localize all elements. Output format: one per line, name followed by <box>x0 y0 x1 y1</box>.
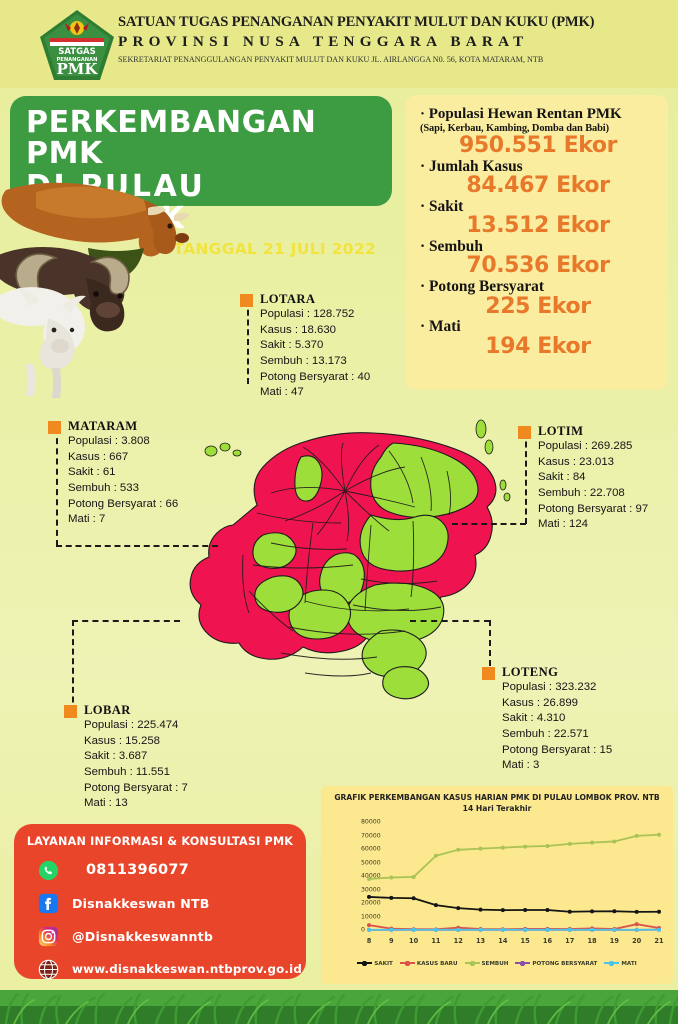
facebook-icon <box>38 893 59 914</box>
chart-legend-label: SAKIT <box>374 961 393 967</box>
logo-pmk-text: PMK <box>57 60 99 78</box>
contact-instagram-handle: @Disnakkeswanntb <box>72 929 213 944</box>
stat-value-populasi: 950.551 Ekor <box>420 134 656 158</box>
chart-legend-swatch <box>400 960 415 967</box>
chart-data-point <box>501 846 505 850</box>
chart-x-tick: 14 <box>498 937 507 945</box>
stat-value-sembuh: 70.536 Ekor <box>420 254 656 278</box>
region-stat-sembuh: Sembuh : 22.571 <box>502 727 612 743</box>
region-stat-populasi: Populasi : 3.808 <box>68 434 178 450</box>
region-stat-sakit: Sakit : 61 <box>68 465 178 481</box>
chart-data-point <box>367 895 371 899</box>
stat-value-mati: 194 Ekor <box>420 335 656 359</box>
region-box-mataram[interactable]: MATARAM Populasi : 3.808 Kasus : 667 Sak… <box>48 419 178 528</box>
stat-item-populasi: · Populasi Hewan Rentan PMK (Sapi, Kerba… <box>420 107 656 158</box>
region-stat-kasus: Kasus : 18.630 <box>260 323 370 339</box>
logo-satgas-text: SATGAS <box>58 47 96 57</box>
chart-x-tick: 12 <box>454 937 463 945</box>
chart-data-point <box>367 923 371 927</box>
chart-legend-swatch <box>604 960 619 967</box>
contact-panel: LAYANAN INFORMASI & KONSULTASI PMK 08113… <box>14 824 306 979</box>
region-header: LOTARA <box>240 292 370 307</box>
header-address-line: SEKRETARIAT PENANGGULANGAN PENYAKIT MULU… <box>118 55 670 64</box>
region-stat-potong-bersyarat: Potong Bersyarat : 97 <box>538 502 648 518</box>
contact-phone-number: 0811396077 <box>86 862 189 878</box>
chart-x-tick: 16 <box>543 937 552 945</box>
poster-header: SATGAS PENANGANAN PMK SATUAN TUGAS PENAN… <box>0 0 678 88</box>
chart-data-point <box>635 928 639 932</box>
region-stat-list: Populasi : 225.474 Kasus : 15.258 Sakit … <box>84 718 188 812</box>
bullet-icon: · <box>420 319 425 334</box>
stat-item-sakit: · Sakit 13.512 Ekor <box>420 199 656 238</box>
chart-legend-swatch <box>465 960 480 967</box>
chart-data-point <box>523 845 527 849</box>
chart-data-point <box>479 908 483 912</box>
region-stat-populasi: Populasi : 128.752 <box>260 307 370 323</box>
region-stat-list: Populasi : 323.232 Kasus : 26.899 Sakit … <box>502 680 612 774</box>
region-stat-potong-bersyarat: Potong Bersyarat : 66 <box>68 497 178 513</box>
chart-lines-svg <box>361 818 667 936</box>
region-stat-list: Populasi : 269.285 Kasus : 23.013 Sakit … <box>538 439 648 533</box>
stat-value-sakit: 13.512 Ekor <box>420 214 656 238</box>
title-line-1: PERKEMBANGAN PMK <box>26 108 376 169</box>
whatsapp-icon <box>38 860 59 881</box>
stat-label-sembuh: · Sembuh <box>420 239 656 254</box>
region-stat-kasus: Kasus : 23.013 <box>538 455 648 471</box>
chart-data-point <box>612 909 616 913</box>
region-box-loteng[interactable]: LOTENG Populasi : 323.232 Kasus : 26.899… <box>482 665 612 774</box>
chart-plot-area: 0100002000030000400005000060000700008000… <box>327 818 667 946</box>
chart-data-point <box>479 847 483 851</box>
satgas-pmk-logo: SATGAS PENANGANAN PMK <box>38 8 116 82</box>
map-marker-icon <box>240 294 253 307</box>
region-stat-populasi: Populasi : 269.285 <box>538 439 648 455</box>
chart-data-point <box>635 922 639 926</box>
chart-data-point <box>523 928 527 932</box>
chart-data-point <box>657 928 661 932</box>
contact-panel-title: LAYANAN INFORMASI & KONSULTASI PMK <box>14 835 306 848</box>
chart-title: GRAFIK PERKEMBANGAN KASUS HARIAN PMK DI … <box>327 792 667 803</box>
map-marker-icon <box>64 705 77 718</box>
daily-cases-chart-card: GRAFIK PERKEMBANGAN KASUS HARIAN PMK DI … <box>321 786 673 984</box>
chart-data-point <box>434 928 438 932</box>
chart-legend-label: SEMBUH <box>482 961 509 967</box>
stat-item-mati: · Mati 194 Ekor <box>420 319 656 358</box>
stat-label-populasi: · Populasi Hewan Rentan PMK <box>420 107 656 122</box>
summary-stats-panel: · Populasi Hewan Rentan PMK (Sapi, Kerba… <box>406 95 668 390</box>
chart-x-tick: 11 <box>431 937 440 945</box>
contact-row-instagram[interactable]: @Disnakkeswanntb <box>38 925 306 947</box>
lombok-island-map <box>185 395 515 725</box>
chart-data-point <box>590 928 594 932</box>
region-stat-mati: Mati : 13 <box>84 796 188 812</box>
chart-legend-label: POTONG BERSYARAT <box>532 961 597 967</box>
region-stat-sembuh: Sembuh : 11.551 <box>84 765 188 781</box>
region-stat-mati: Mati : 7 <box>68 512 178 528</box>
contact-website-url: www.disnakkeswan.ntbprov.go.id <box>72 962 302 976</box>
chart-data-point <box>590 841 594 845</box>
region-box-lotara[interactable]: LOTARA Populasi : 128.752 Kasus : 18.630… <box>240 292 370 401</box>
chart-data-point <box>367 877 371 881</box>
chart-x-tick: 9 <box>389 937 394 945</box>
region-header: LOTIM <box>518 424 648 439</box>
region-header: LOBAR <box>64 703 188 718</box>
chart-x-tick: 18 <box>587 937 596 945</box>
chart-data-point <box>568 842 572 846</box>
region-name: LOTARA <box>260 292 315 307</box>
chart-data-point <box>501 928 505 932</box>
region-stat-kasus: Kasus : 26.899 <box>502 696 612 712</box>
region-box-lotim[interactable]: LOTIM Populasi : 269.285 Kasus : 23.013 … <box>518 424 648 533</box>
region-stat-sembuh: Sembuh : 22.708 <box>538 486 648 502</box>
chart-legend-swatch <box>515 960 530 967</box>
chart-data-point <box>657 910 661 914</box>
region-stat-sakit: Sakit : 3.687 <box>84 749 188 765</box>
region-stat-kasus: Kasus : 667 <box>68 450 178 466</box>
header-province-line: PROVINSI NUSA TENGGARA BARAT <box>118 33 670 51</box>
chart-x-tick: 13 <box>476 937 485 945</box>
connector-mataram-h <box>56 545 218 547</box>
contact-row-facebook[interactable]: Disnakkeswan NTB <box>38 892 306 914</box>
contact-row-whatsapp[interactable]: 0811396077 <box>38 859 306 881</box>
region-name: LOBAR <box>84 703 131 718</box>
region-stat-sembuh: Sembuh : 533 <box>68 481 178 497</box>
stat-item-kasus: · Jumlah Kasus 84.467 Ekor <box>420 159 656 198</box>
chart-x-tick: 20 <box>632 937 641 945</box>
chart-x-tick: 19 <box>610 937 619 945</box>
chart-legend-item[interactable]: KASUS BARU <box>400 960 458 967</box>
chart-legend-item[interactable]: POTONG BERSYARAT <box>515 960 597 967</box>
chart-data-point <box>545 928 549 932</box>
stat-label-kasus: · Jumlah Kasus <box>420 159 656 174</box>
chart-legend-swatch <box>357 960 372 967</box>
chart-data-point <box>501 908 505 912</box>
stat-label-text: Potong Bersyarat <box>429 278 544 295</box>
region-stat-populasi: Populasi : 225.474 <box>84 718 188 734</box>
region-stat-list: Populasi : 3.808 Kasus : 667 Sakit : 61 … <box>68 434 178 528</box>
chart-x-tick: 15 <box>521 937 530 945</box>
region-name: LOTENG <box>502 665 558 680</box>
region-stat-kasus: Kasus : 15.258 <box>84 734 188 750</box>
chart-x-tick: 8 <box>367 937 372 945</box>
grass-footer-illustration <box>0 976 678 1024</box>
region-stat-mati: Mati : 124 <box>538 517 648 533</box>
contact-facebook-handle: Disnakkeswan NTB <box>72 896 210 911</box>
chart-data-point <box>434 903 438 907</box>
stat-label-text: Mati <box>429 318 461 335</box>
connector-lobar-h <box>72 620 180 622</box>
instagram-icon <box>38 926 59 947</box>
chart-data-point <box>456 906 460 910</box>
chart-data-point <box>635 834 639 838</box>
bullet-icon: · <box>420 279 425 294</box>
region-stat-populasi: Populasi : 323.232 <box>502 680 612 696</box>
chart-data-point <box>389 875 393 879</box>
chart-data-point <box>412 875 416 879</box>
chart-data-point <box>657 833 661 837</box>
chart-data-point <box>635 910 639 914</box>
chart-data-point <box>389 928 393 932</box>
chart-data-point <box>456 928 460 932</box>
map-marker-icon <box>482 667 495 680</box>
livestock-illustration <box>0 178 226 403</box>
chart-legend-item[interactable]: SAKIT <box>357 960 393 967</box>
chart-data-point <box>367 928 371 932</box>
chart-data-point <box>612 928 616 932</box>
region-stat-potong-bersyarat: Potong Bersyarat : 15 <box>502 743 612 759</box>
region-name: MATARAM <box>68 419 137 434</box>
region-name: LOTIM <box>538 424 583 439</box>
chart-data-point <box>523 908 527 912</box>
region-stat-sakit: Sakit : 5.370 <box>260 338 370 354</box>
stat-label-text: Sakit <box>429 198 463 215</box>
connector-loteng-h <box>410 620 490 622</box>
region-box-lobar[interactable]: LOBAR Populasi : 225.474 Kasus : 15.258 … <box>64 703 188 812</box>
chart-data-point <box>456 848 460 852</box>
bullet-icon: · <box>420 107 425 122</box>
chart-data-point <box>412 928 416 932</box>
chart-x-tick: 21 <box>654 937 663 945</box>
bullet-icon: · <box>420 199 425 214</box>
region-stat-sakit: Sakit : 84 <box>538 470 648 486</box>
chart-legend-label: KASUS BARU <box>417 961 458 967</box>
stat-label-potong-bersyarat: · Potong Bersyarat <box>420 279 656 294</box>
chart-subtitle: 14 Hari Terakhir <box>327 803 667 814</box>
region-stat-mati: Mati : 3 <box>502 758 612 774</box>
region-stat-sakit: Sakit : 4.310 <box>502 711 612 727</box>
region-header: MATARAM <box>48 419 178 434</box>
chart-data-point <box>545 844 549 848</box>
region-stat-mati: Mati : 47 <box>260 385 370 401</box>
chart-data-point <box>612 839 616 843</box>
chart-legend: SAKITKASUS BARUSEMBUHPOTONG BERSYARATMAT… <box>327 960 667 967</box>
chart-data-point <box>568 928 572 932</box>
region-stat-list: Populasi : 128.752 Kasus : 18.630 Sakit … <box>260 307 370 401</box>
header-org-line: SATUAN TUGAS PENANGANAN PENYAKIT MULUT D… <box>118 14 670 31</box>
header-text-block: SATUAN TUGAS PENANGANAN PENYAKIT MULUT D… <box>118 14 670 64</box>
chart-data-point <box>590 909 594 913</box>
chart-data-point <box>479 928 483 932</box>
region-header: LOTENG <box>482 665 612 680</box>
chart-legend-label: MATI <box>621 961 636 967</box>
connector-lotim-h <box>452 523 526 525</box>
bullet-icon: · <box>420 159 425 174</box>
region-stat-potong-bersyarat: Potong Bersyarat : 7 <box>84 781 188 797</box>
region-stat-potong-bersyarat: Potong Bersyarat : 40 <box>260 370 370 386</box>
chart-data-point <box>568 910 572 914</box>
connector-lobar-v <box>72 620 74 712</box>
chart-data-point <box>389 896 393 900</box>
bullet-icon: · <box>420 239 425 254</box>
chart-data-point <box>434 854 438 858</box>
chart-legend-item[interactable]: SEMBUH <box>465 960 509 967</box>
chart-data-point <box>545 908 549 912</box>
stat-value-potong-bersyarat: 225 Ekor <box>420 295 656 319</box>
chart-data-point <box>412 896 416 900</box>
chart-x-tick: 17 <box>565 937 574 945</box>
stat-item-potong-bersyarat: · Potong Bersyarat 225 Ekor <box>420 279 656 318</box>
map-marker-icon <box>48 421 61 434</box>
map-marker-icon <box>518 426 531 439</box>
stat-label-sakit: · Sakit <box>420 199 656 214</box>
stat-value-kasus: 84.467 Ekor <box>420 174 656 198</box>
chart-legend-item[interactable]: MATI <box>604 960 636 967</box>
infographic-poster: SATGAS PENANGANAN PMK SATUAN TUGAS PENAN… <box>0 0 678 1024</box>
chart-x-tick: 10 <box>409 937 418 945</box>
stat-item-sembuh: · Sembuh 70.536 Ekor <box>420 239 656 278</box>
stat-label-mati: · Mati <box>420 319 656 334</box>
goat-illustration <box>0 287 86 398</box>
region-stat-sembuh: Sembuh : 13.173 <box>260 354 370 370</box>
stat-label-text: Populasi Hewan Rentan PMK <box>429 106 622 122</box>
